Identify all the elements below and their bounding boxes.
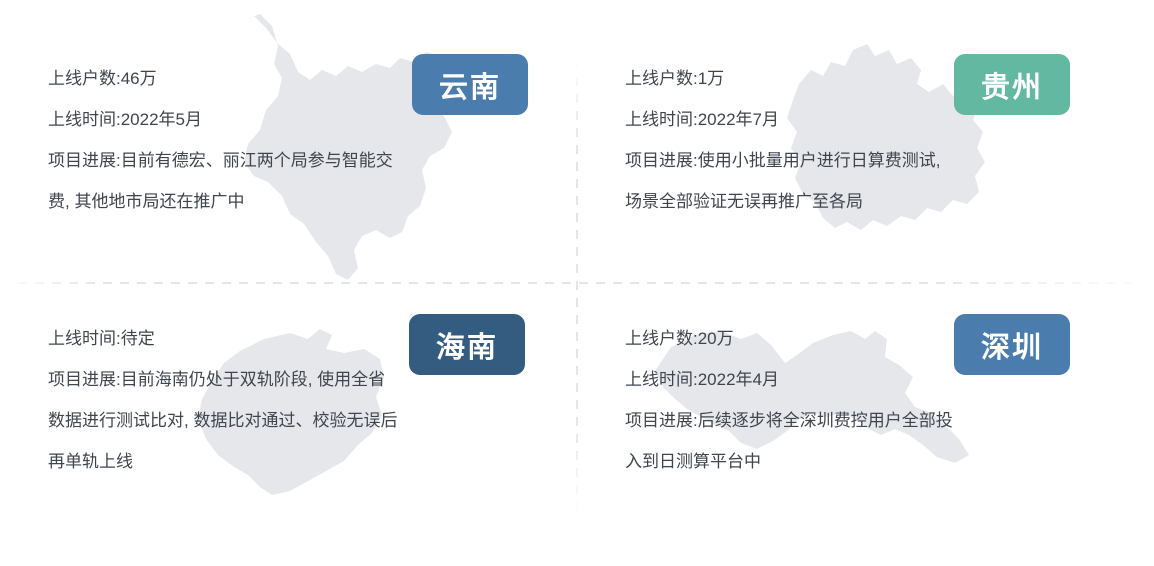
info-line: 上线户数:1万 — [625, 58, 1095, 99]
info-line: 上线时间:待定 — [48, 318, 518, 359]
info-guizhou: 上线户数:1万 上线时间:2022年7月 项目进展:使用小批量用户进行日算费测试… — [625, 58, 1095, 222]
card-guizhou: 贵州 上线户数:1万 上线时间:2022年7月 项目进展:使用小批量用户进行日算… — [577, 0, 1154, 283]
info-line: 上线时间:2022年4月 — [625, 359, 1095, 400]
info-line: 费, 其他地市局还在推广中 — [48, 181, 518, 222]
info-line: 项目进展:目前海南仍处于双轨阶段, 使用全省 — [48, 359, 518, 400]
info-line: 项目进展:目前有德宏、丽江两个局参与智能交 — [48, 140, 518, 181]
info-yunnan: 上线户数:46万 上线时间:2022年5月 项目进展:目前有德宏、丽江两个局参与… — [48, 58, 518, 222]
info-line: 上线时间:2022年7月 — [625, 99, 1095, 140]
info-shenzhen: 上线户数:20万 上线时间:2022年4月 项目进展:后续逐步将全深圳费控用户全… — [625, 318, 1095, 482]
info-line: 项目进展:后续逐步将全深圳费控用户全部投 — [625, 400, 1095, 441]
info-line: 上线户数:20万 — [625, 318, 1095, 359]
info-line: 上线户数:46万 — [48, 58, 518, 99]
card-yunnan: 云南 上线户数:46万 上线时间:2022年5月 项目进展:目前有德宏、丽江两个… — [0, 0, 577, 283]
info-line: 数据进行测试比对, 数据比对通过、校验无误后 — [48, 400, 518, 441]
card-hainan: 海南 上线时间:待定 项目进展:目前海南仍处于双轨阶段, 使用全省 数据进行测试… — [0, 283, 577, 566]
info-line: 入到日测算平台中 — [625, 441, 1095, 482]
info-line: 再单轨上线 — [48, 441, 518, 482]
info-line: 上线时间:2022年5月 — [48, 99, 518, 140]
info-line: 场景全部验证无误再推广至各局 — [625, 181, 1095, 222]
card-shenzhen: 深圳 上线户数:20万 上线时间:2022年4月 项目进展:后续逐步将全深圳费控… — [577, 283, 1154, 566]
province-status-board: 云南 上线户数:46万 上线时间:2022年5月 项目进展:目前有德宏、丽江两个… — [0, 0, 1154, 566]
info-hainan: 上线时间:待定 项目进展:目前海南仍处于双轨阶段, 使用全省 数据进行测试比对,… — [48, 318, 518, 482]
info-line: 项目进展:使用小批量用户进行日算费测试, — [625, 140, 1095, 181]
